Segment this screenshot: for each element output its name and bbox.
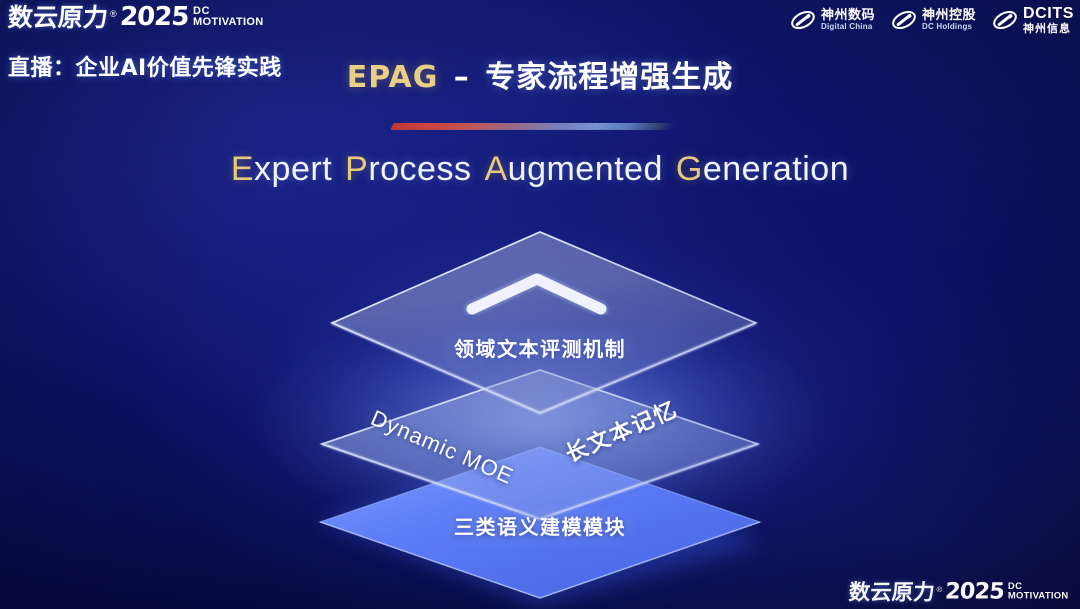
- subtitle-word-process: rocess: [368, 150, 471, 188]
- partner-text: DCITS 神州信息: [1023, 6, 1074, 34]
- subtitle-cap-a: A: [484, 150, 507, 188]
- logo-dc-motivation: DC MOTIVATION: [193, 6, 263, 28]
- registered-mark-icon: ®: [936, 585, 942, 594]
- partner-name-en: Digital China: [821, 23, 875, 31]
- page-subtitle: ExpertProcessAugmentedGeneration: [0, 150, 1080, 189]
- logo-chinese-name: 数云原力: [7, 5, 109, 30]
- logo-lockup: 数云原力 ® 2025 DC MOTIVATION: [8, 4, 263, 30]
- subtitle-cap-p: P: [345, 150, 368, 188]
- brand-logo-topleft: 数云原力 ® 2025 DC MOTIVATION: [8, 4, 263, 30]
- partner-logo-digital-china: 神州数码 Digital China: [790, 9, 875, 31]
- title-divider: [390, 123, 676, 130]
- swoosh-icon: [790, 9, 816, 31]
- subtitle-cap-g: G: [676, 150, 703, 188]
- slide-canvas: 数云原力 ® 2025 DC MOTIVATION 直播：企业AI价值先锋实践 …: [0, 0, 1080, 609]
- partner-logo-dc-holdings: 神州控股 DC Holdings: [891, 9, 976, 31]
- partner-text: 神州数码 Digital China: [821, 9, 875, 31]
- partner-name-cn: 神州数码: [821, 9, 875, 23]
- partner-name-en: DCITS: [1023, 6, 1074, 23]
- logo-motivation: MOTIVATION: [193, 17, 263, 28]
- logo-year: 2025: [119, 4, 189, 30]
- headline-acronym: EPAG: [347, 60, 439, 95]
- registered-mark-icon: ®: [110, 9, 117, 19]
- logo-dc-motivation: DC MOTIVATION: [1007, 582, 1068, 601]
- logo-year: 2025: [944, 581, 1004, 603]
- swoosh-icon: [992, 9, 1018, 31]
- headline-chinese: 专家流程增强生成: [485, 60, 733, 95]
- partner-name-cn: 神州信息: [1023, 23, 1074, 35]
- live-session-title: 直播：企业AI价值先锋实践: [8, 50, 282, 82]
- brand-logo-bottomright: 数云原力 ® 2025 DC MOTIVATION: [848, 581, 1068, 603]
- swoosh-icon: [891, 9, 917, 31]
- subtitle-cap-e: E: [231, 150, 254, 188]
- partner-logo-bar: 神州数码 Digital China 神州控股 DC Holdings: [790, 6, 1074, 34]
- subtitle-word-expert: xpert: [254, 150, 332, 188]
- logo-chinese-name: 数云原力: [848, 582, 936, 604]
- partner-logo-dcits: DCITS 神州信息: [992, 6, 1074, 34]
- logo-lockup: 数云原力 ® 2025 DC MOTIVATION: [848, 581, 1068, 603]
- subtitle-word-generation: eneration: [703, 150, 849, 188]
- partner-text: 神州控股 DC Holdings: [922, 9, 976, 31]
- headline-dash: –: [450, 60, 474, 95]
- logo-motivation: MOTIVATION: [1007, 592, 1068, 602]
- subtitle-word-augmented: ugmented: [508, 150, 663, 188]
- partner-name-cn: 神州控股: [922, 9, 976, 23]
- partner-name-en: DC Holdings: [922, 23, 976, 31]
